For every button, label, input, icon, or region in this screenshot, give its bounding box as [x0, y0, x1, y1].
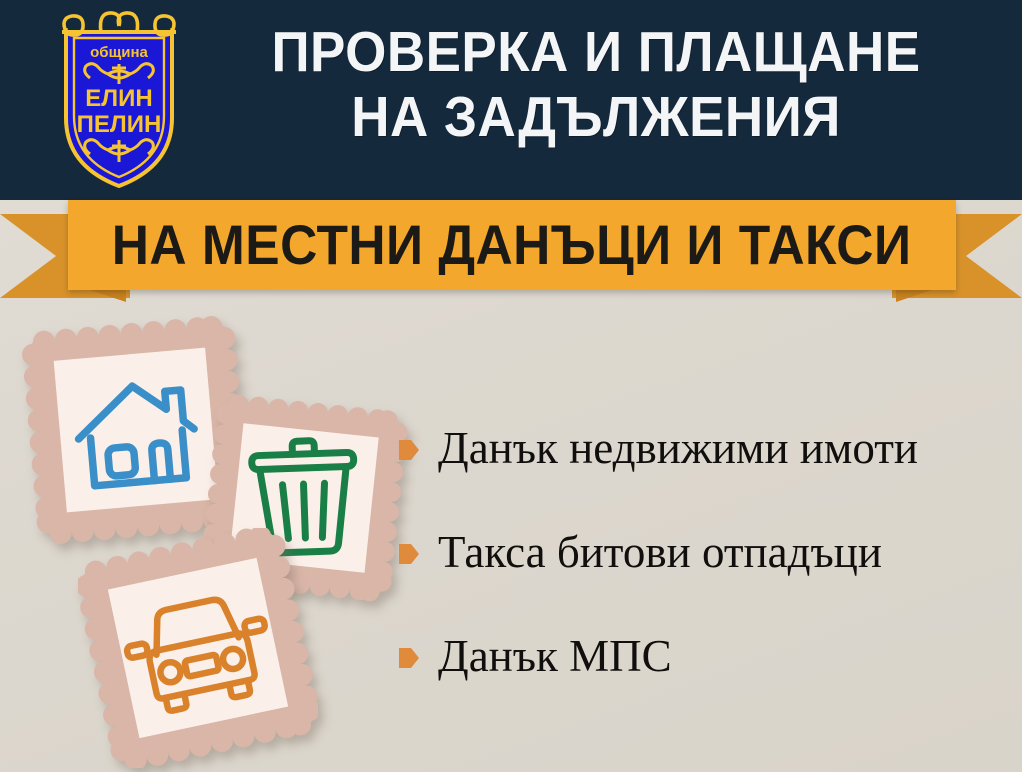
arrow-bullet-icon	[398, 645, 420, 671]
page-title: ПРОВЕРКА И ПЛАЩАНЕ НА ЗАДЪЛЖЕНИЯ	[224, 20, 968, 150]
subtitle-ribbon: НА МЕСТНИ ДАНЪЦИ И ТАКСИ	[0, 196, 1022, 308]
header-banner: община ЕЛИН ПЕЛИН ПРОВЕРКА И ПЛАЩАНЕ НА …	[0, 0, 1022, 200]
arrow-bullet-icon	[398, 541, 420, 567]
arrow-bullet-icon	[398, 437, 420, 463]
list-item[interactable]: Данък недвижими имоти	[398, 420, 1018, 476]
list-item-label: Данък МПС	[438, 634, 672, 679]
ribbon-body: НА МЕСТНИ ДАНЪЦИ И ТАКСИ	[68, 200, 956, 290]
list-item-label: Такса битови отпадъци	[438, 530, 882, 575]
crest-line-2: ПЕЛИН	[77, 111, 162, 138]
stamp-card-car	[78, 528, 318, 772]
list-item[interactable]: Такса битови отпадъци	[398, 524, 1018, 580]
list-item-label: Данък недвижими имоти	[438, 426, 918, 471]
page-title-line-2: НА ЗАДЪЛЖЕНИЯ	[224, 85, 968, 150]
list-item[interactable]: Данък МПС	[398, 628, 1018, 684]
ribbon-label: НА МЕСТНИ ДАНЪЦИ И ТАКСИ	[112, 217, 912, 273]
car-stamp	[78, 528, 318, 768]
crest-line-1: ЕЛИН	[85, 85, 152, 112]
poster-canvas: община ЕЛИН ПЕЛИН ПРОВЕРКА И ПЛАЩАНЕ НА …	[0, 0, 1022, 772]
page-title-line-1: ПРОВЕРКА И ПЛАЩАНЕ	[271, 20, 920, 84]
crest-line-small: община	[90, 44, 148, 61]
tax-type-list: Данък недвижими имоти Такса битови отпад…	[398, 420, 1018, 684]
crest-icon: община ЕЛИН ПЕЛИН	[44, 6, 194, 192]
coat-of-arms-logo: община ЕЛИН ПЕЛИН	[44, 6, 194, 192]
stamp-border-scallop	[78, 528, 318, 768]
